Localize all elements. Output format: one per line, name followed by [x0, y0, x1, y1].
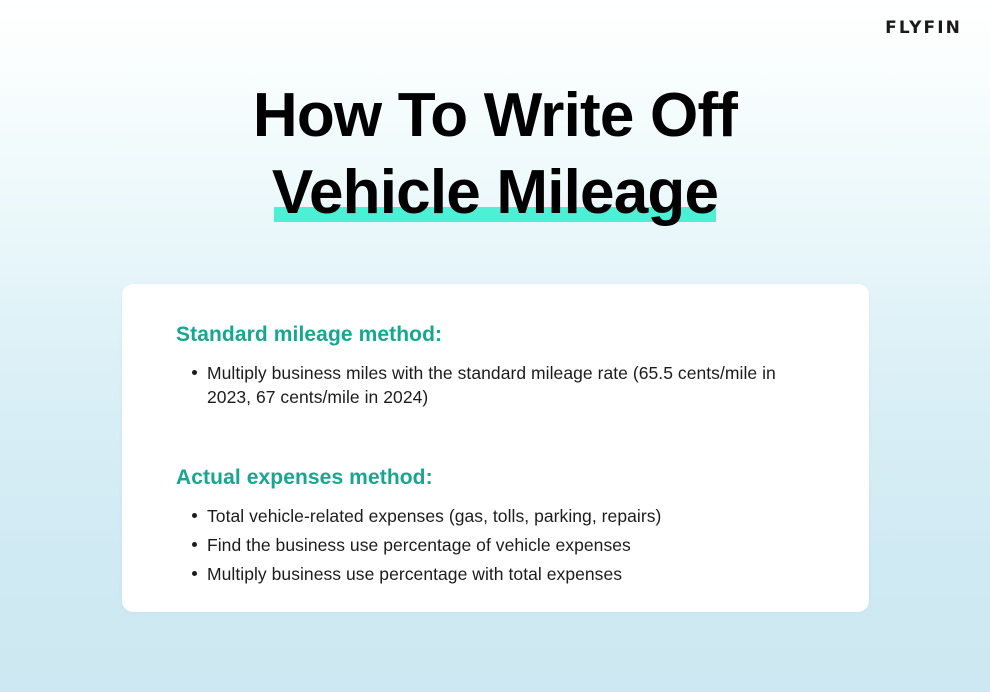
flyfin-logo: FLYFIN	[885, 20, 962, 37]
list-item: Find the business use percentage of vehi…	[207, 533, 797, 557]
list-item: Total vehicle-related expenses (gas, tol…	[207, 504, 797, 528]
poster-canvas: FLYFIN How To Write Off Vehicle Mileage …	[0, 0, 990, 692]
section-actual-expenses: Actual expenses method: Total vehicle-re…	[122, 465, 869, 587]
list-item: Multiply business use percentage with to…	[207, 562, 797, 586]
page-title: How To Write Off Vehicle Mileage	[0, 78, 990, 232]
section-heading-standard-mileage: Standard mileage method:	[176, 322, 869, 347]
page-title-line-2: Vehicle Mileage	[272, 158, 718, 227]
content-card: Standard mileage method: Multiply busine…	[122, 284, 869, 612]
bullet-list-actual-expenses: Total vehicle-related expenses (gas, tol…	[122, 504, 869, 586]
page-title-line-1: How To Write Off	[0, 78, 990, 155]
bullet-list-standard-mileage: Multiply business miles with the standar…	[122, 361, 869, 409]
section-standard-mileage: Standard mileage method: Multiply busine…	[122, 322, 869, 409]
list-item: Multiply business miles with the standar…	[207, 361, 797, 409]
page-title-line-2-wrapper: Vehicle Mileage	[272, 155, 718, 232]
section-heading-actual-expenses: Actual expenses method:	[176, 465, 869, 490]
